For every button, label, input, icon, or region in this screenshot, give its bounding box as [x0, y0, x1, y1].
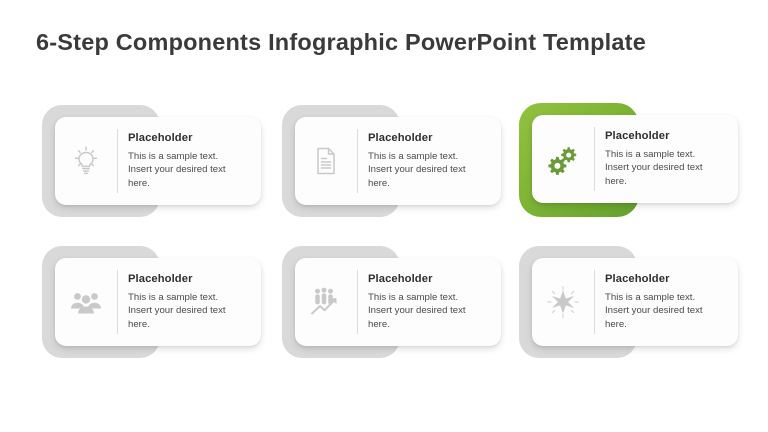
card-text: Placeholder This is a sample text. Inser…: [605, 272, 732, 331]
card-text: Placeholder This is a sample text. Inser…: [368, 272, 495, 331]
card-surface[interactable]: Placeholder This is a sample text. Inser…: [55, 258, 261, 346]
component-card-2[interactable]: Placeholder This is a sample text. Inser…: [282, 105, 514, 223]
card-body: This is a sample text. Insert your desir…: [128, 150, 232, 191]
card-body: This is a sample text. Insert your desir…: [368, 291, 472, 332]
components-grid: Placeholder This is a sample text. Inser…: [0, 0, 768, 432]
card-surface[interactable]: Placeholder This is a sample text. Inser…: [295, 258, 501, 346]
component-card-5[interactable]: Placeholder This is a sample text. Inser…: [282, 246, 514, 364]
component-card-4[interactable]: Placeholder This is a sample text. Inser…: [42, 246, 274, 364]
starburst-icon: [532, 258, 594, 346]
gears-icon: [532, 115, 594, 203]
lightbulb-icon: [55, 117, 117, 205]
card-body: This is a sample text. Insert your desir…: [605, 291, 709, 332]
card-text: Placeholder This is a sample text. Inser…: [605, 129, 732, 188]
card-divider: [594, 270, 595, 334]
people-growth-chart-icon: [295, 258, 357, 346]
card-body: This is a sample text. Insert your desir…: [368, 150, 472, 191]
card-title: Placeholder: [605, 273, 732, 286]
card-title: Placeholder: [605, 130, 732, 143]
card-text: Placeholder This is a sample text. Inser…: [128, 131, 255, 190]
card-divider: [594, 127, 595, 191]
document-icon: [295, 117, 357, 205]
card-surface[interactable]: Placeholder This is a sample text. Inser…: [295, 117, 501, 205]
card-surface[interactable]: Placeholder This is a sample text. Inser…: [532, 115, 738, 203]
card-text: Placeholder This is a sample text. Inser…: [128, 272, 255, 331]
card-title: Placeholder: [368, 273, 495, 286]
card-divider: [357, 270, 358, 334]
card-divider: [117, 129, 118, 193]
card-divider: [117, 270, 118, 334]
card-title: Placeholder: [128, 132, 255, 145]
card-title: Placeholder: [368, 132, 495, 145]
card-body: This is a sample text. Insert your desir…: [605, 148, 709, 189]
component-card-3[interactable]: Placeholder This is a sample text. Inser…: [519, 103, 751, 221]
card-title: Placeholder: [128, 273, 255, 286]
component-card-1[interactable]: Placeholder This is a sample text. Inser…: [42, 105, 274, 223]
people-group-icon: [55, 258, 117, 346]
card-surface[interactable]: Placeholder This is a sample text. Inser…: [532, 258, 738, 346]
card-body: This is a sample text. Insert your desir…: [128, 291, 232, 332]
card-surface[interactable]: Placeholder This is a sample text. Inser…: [55, 117, 261, 205]
card-divider: [357, 129, 358, 193]
component-card-6[interactable]: Placeholder This is a sample text. Inser…: [519, 246, 751, 364]
card-text: Placeholder This is a sample text. Inser…: [368, 131, 495, 190]
